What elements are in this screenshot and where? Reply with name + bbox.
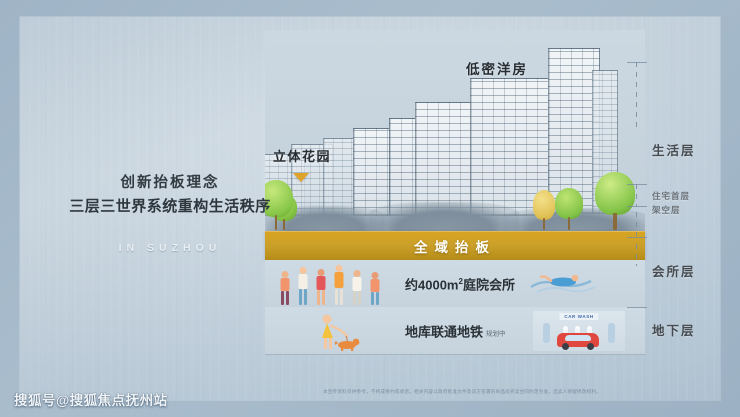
car-wash-sign: CAR WASH: [559, 313, 598, 320]
clubhouse-label: 约4000m2庭院会所: [405, 274, 515, 293]
headline-block: 创新抬板理念 三层三世界系统重构生活秩序 IN SUZHOU: [50, 172, 290, 254]
gold-banner-label: 全域抬板: [414, 236, 496, 256]
swimmer-icon: [529, 268, 599, 298]
callout-low-density: 低密洋房: [466, 58, 528, 78]
dog-walker-icon: [297, 312, 367, 352]
axis-tick: [627, 206, 647, 207]
headline-main: 三层三世界系统重构生活秩序: [50, 194, 290, 220]
person-figure: [333, 265, 345, 305]
tree-right-large: [595, 172, 635, 230]
axis-tick: [627, 62, 647, 63]
basement-label: 地库联通地铁规划中: [405, 321, 506, 340]
axis-label-living: 生活层: [652, 140, 696, 159]
axis-label-residential-ground: 住宅首层: [652, 190, 690, 202]
axis-dashed-segment: [636, 62, 637, 128]
stratum-basement: 地库联通地铁规划中 CAR WASH: [265, 307, 645, 355]
axis-label-stilt-floor: 架空层: [652, 204, 681, 216]
watermark: 搜狐号@搜狐焦点抚州站: [14, 389, 168, 409]
red-car: [557, 333, 599, 347]
axis-tick: [627, 184, 647, 185]
person-figure: [369, 272, 381, 305]
basement-label-note: 规划中: [486, 330, 506, 337]
wash-brush-left: [543, 323, 550, 343]
axis-tick: [627, 237, 647, 238]
axis-label-underground: 地下层: [652, 320, 696, 339]
architecture-rendering: [265, 30, 645, 232]
tree-right-mid: [555, 188, 583, 230]
people-group-illustration: [275, 263, 400, 305]
person-figure: [351, 270, 363, 305]
stratum-clubhouse: 约4000m2庭院会所: [265, 260, 645, 308]
axis-dashed-segment: [636, 212, 637, 236]
slide-canvas: 低密洋房 立体花园 创新抬板理念 三层三世界系统重构生活秩序 IN SUZHOU…: [0, 0, 740, 417]
building-main-left: [415, 102, 477, 216]
basement-label-main: 地库联通地铁: [405, 324, 483, 339]
axis-tick: [627, 307, 647, 308]
car-window: [565, 335, 591, 341]
legal-fineprint: 本宣传资料仅供参考，不构成要约或承诺，相关内容以政府批准文件及双方签署的商品房买…: [262, 389, 662, 395]
dog-walker-illustration: [297, 312, 367, 352]
clubhouse-label-main: 约4000m: [405, 277, 458, 292]
down-triangle-icon: [293, 173, 309, 182]
headline-subline: IN SUZHOU: [50, 242, 290, 254]
foreground-shrub-center: [369, 202, 519, 232]
axis-dashed-segment: [636, 184, 637, 206]
axis-dashed-segment: [636, 244, 637, 266]
tree-right-accent: [533, 190, 555, 230]
gold-banner: 全域抬板: [265, 231, 645, 260]
axis-label-clubhouse: 会所层: [652, 261, 696, 280]
person-figure: [279, 271, 291, 305]
person-figure: [297, 267, 309, 305]
person-figure: [315, 269, 327, 305]
clubhouse-label-tail: 庭院会所: [463, 277, 515, 292]
headline-small: 创新抬板理念: [50, 172, 290, 194]
pool-swimmer-illustration: [529, 268, 599, 298]
callout-vertical-garden: 立体花园: [273, 146, 331, 165]
level-axis: [636, 62, 638, 354]
car-wash-illustration: CAR WASH: [533, 311, 625, 351]
wash-brush-right: [608, 323, 615, 343]
